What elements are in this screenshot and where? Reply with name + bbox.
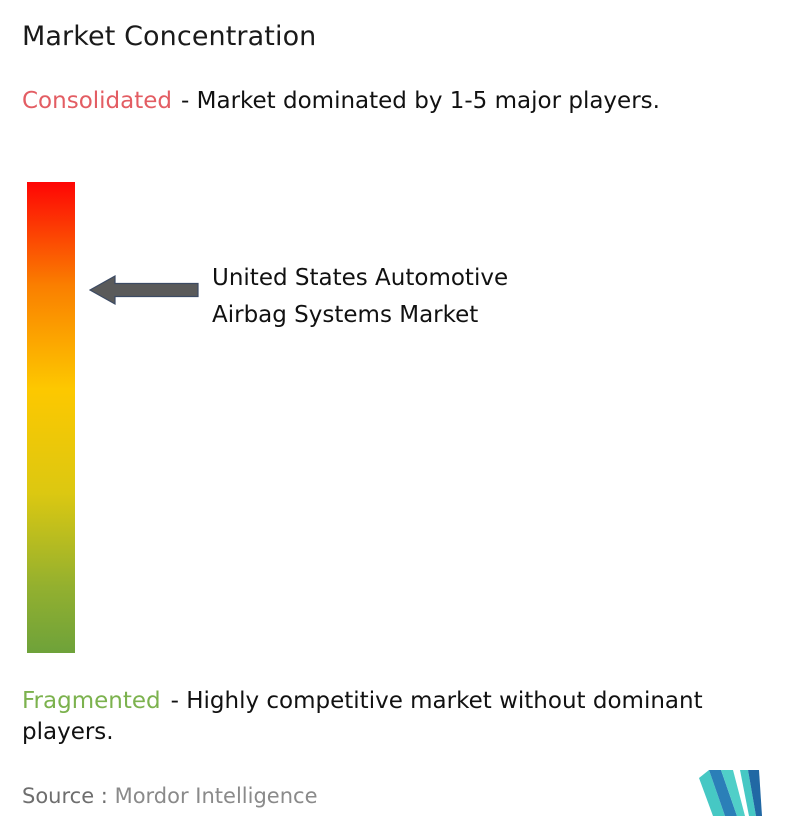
- legend-fragmented: Fragmented- Highly competitive market wi…: [22, 686, 782, 748]
- legend-consolidated-keyword: Consolidated: [22, 88, 172, 114]
- legend-consolidated: Consolidated- Market dominated by 1-5 ma…: [22, 86, 774, 117]
- market-concentration-chart: Market Concentration Consolidated- Marke…: [0, 0, 796, 834]
- marker-label-line-2: Airbag Systems Market: [212, 297, 642, 334]
- marker-label: United States Automotive Airbag Systems …: [212, 260, 642, 334]
- mordor-intelligence-logo: [699, 769, 762, 817]
- left-arrow-icon: [89, 274, 199, 306]
- mi-monogram-icon: [699, 769, 762, 817]
- page-title: Market Concentration: [22, 20, 316, 54]
- marker-arrow: [89, 274, 199, 306]
- legend-fragmented-keyword: Fragmented: [22, 688, 161, 714]
- concentration-gradient-bar: [27, 182, 75, 653]
- source-label: Source :: [22, 784, 108, 808]
- marker-label-line-1: United States Automotive: [212, 260, 642, 297]
- source-value: Mordor Intelligence: [115, 784, 318, 808]
- source-attribution: Source : Mordor Intelligence: [22, 782, 317, 810]
- legend-consolidated-description: - Market dominated by 1-5 major players.: [181, 88, 660, 114]
